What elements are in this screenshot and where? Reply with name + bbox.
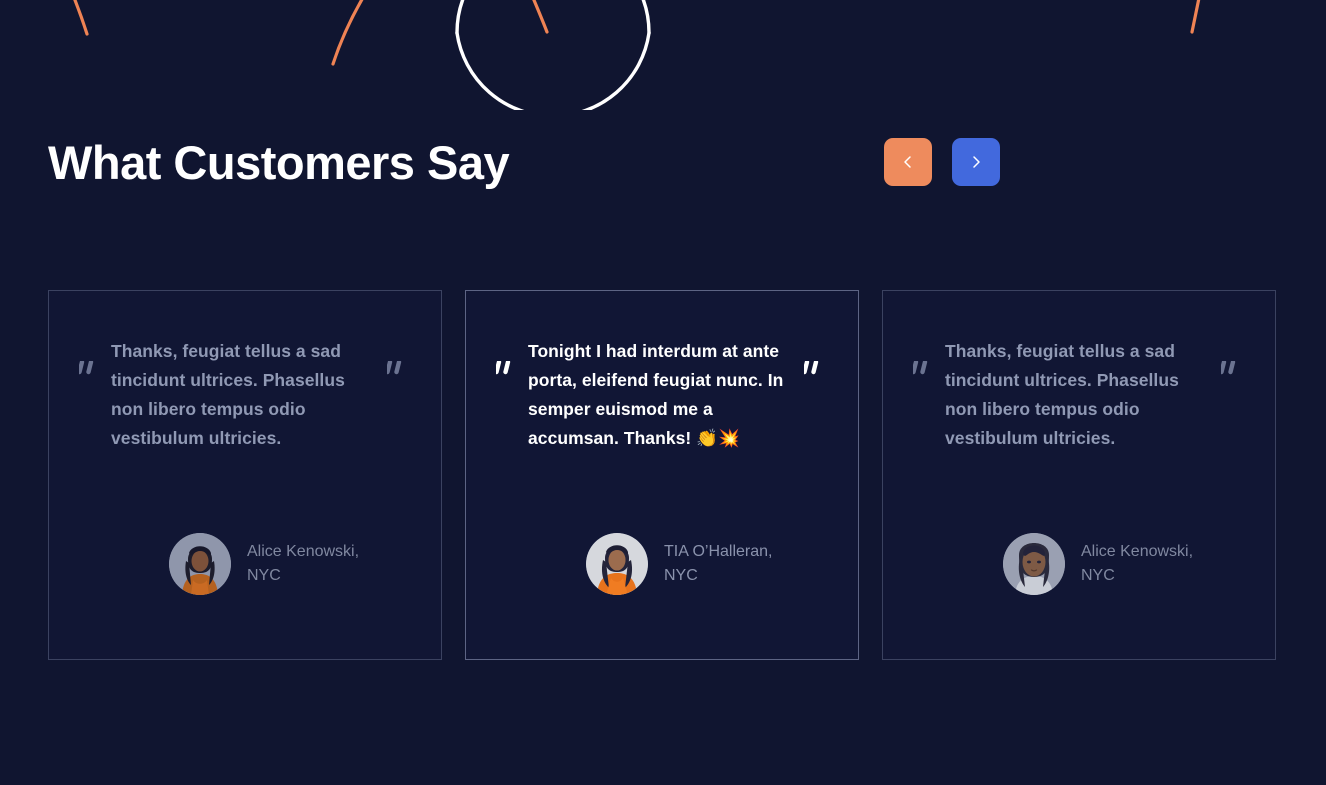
- testimonial-quote: Tonight I had interdum at ante porta, el…: [528, 337, 796, 453]
- testimonial-card[interactable]: Thanks, feugiat tellus a sad tincidunt u…: [882, 290, 1276, 660]
- section-header: What Customers Say: [48, 126, 1278, 198]
- quote-mark-icon: [387, 361, 411, 377]
- testimonial-card[interactable]: Tonight I had interdum at ante porta, el…: [465, 290, 859, 660]
- avatar: [1003, 533, 1065, 595]
- chevron-left-icon: [901, 155, 915, 169]
- quote-mark-icon: [804, 361, 828, 377]
- quote-mark-icon: [79, 361, 103, 377]
- orange-arc-inner: [514, 0, 547, 32]
- orange-arc-right: [1192, 0, 1206, 32]
- quote-mark-icon: [1221, 361, 1245, 377]
- avatar: [169, 533, 231, 595]
- avatar: [586, 533, 648, 595]
- decorative-arcs: [0, 0, 1326, 110]
- testimonial-quote: Thanks, feugiat tellus a sad tincidunt u…: [111, 337, 379, 453]
- white-circle-arc-upper: [457, 0, 500, 33]
- chevron-right-icon: [969, 155, 983, 169]
- quote-row: Thanks, feugiat tellus a sad tincidunt u…: [913, 337, 1245, 453]
- white-circle-arc-upper-right: [606, 0, 649, 33]
- white-circle-arc: [457, 33, 649, 110]
- testimonial-quote: Thanks, feugiat tellus a sad tincidunt u…: [945, 337, 1213, 453]
- quote-row: Tonight I had interdum at ante porta, el…: [496, 337, 828, 453]
- testimonial-author: Alice Kenowski, NYC: [169, 533, 377, 595]
- testimonial-card[interactable]: Thanks, feugiat tellus a sad tincidunt u…: [48, 290, 442, 660]
- testimonial-author: TIA O’Halleran, NYC: [586, 533, 794, 595]
- quote-mark-icon: [496, 361, 520, 377]
- testimonial-author-name: TIA O’Halleran, NYC: [664, 540, 794, 588]
- testimonial-author: Alice Kenowski, NYC: [1003, 533, 1211, 595]
- carousel-prev-button[interactable]: [884, 138, 932, 186]
- testimonial-author-name: Alice Kenowski, NYC: [1081, 540, 1211, 588]
- quote-mark-icon: [913, 361, 937, 377]
- testimonial-author-name: Alice Kenowski, NYC: [247, 540, 377, 588]
- testimonial-carousel: Thanks, feugiat tellus a sad tincidunt u…: [48, 290, 1278, 660]
- quote-row: Thanks, feugiat tellus a sad tincidunt u…: [79, 337, 411, 453]
- carousel-next-button[interactable]: [952, 138, 1000, 186]
- carousel-nav: [884, 138, 1000, 186]
- orange-arc-left: [57, 0, 87, 34]
- page-title: What Customers Say: [48, 139, 509, 186]
- orange-arc-mid: [333, 0, 395, 64]
